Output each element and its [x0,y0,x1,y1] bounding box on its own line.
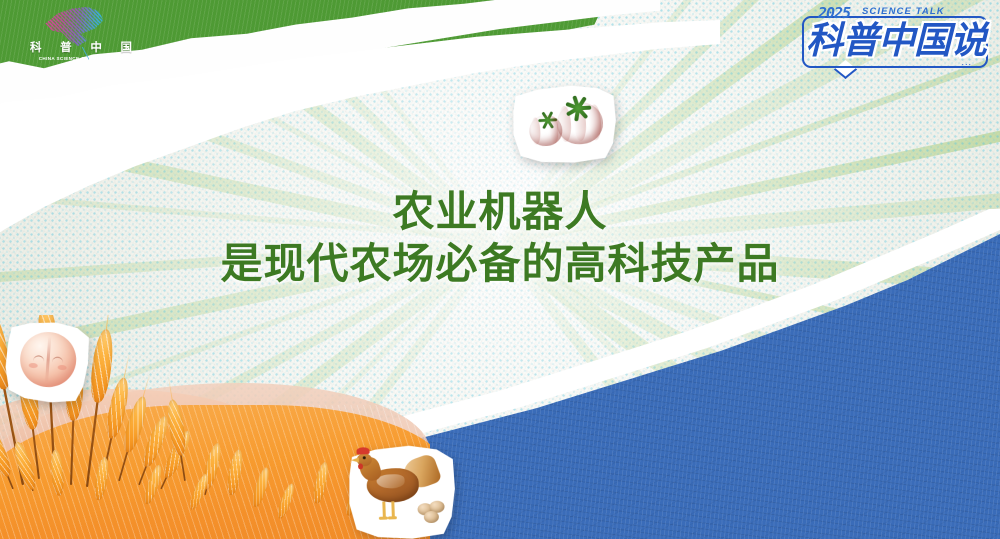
tomato-calyx-large-icon [565,99,592,113]
title-line-2: 是现代农场必备的高科技产品 [0,238,1000,290]
hen-eye-icon [363,456,366,459]
title-line-1: 农业机器人 [0,186,1000,238]
kepu-china-cn-text: 科 普 中 国 [30,42,132,55]
science-talk-underline [824,66,944,69]
hen-comb-icon [356,447,369,454]
peach-eye-right [52,356,63,363]
kepu-char-1: 普 [60,43,72,55]
kepu-char-2: 中 [90,43,102,55]
kepu-char-3: 国 [120,43,132,55]
kepu-char-0: 科 [30,43,42,55]
hen-wattle-icon [358,463,363,469]
science-talk-cn-label: 科普中国说 [806,20,982,61]
tomato-sticker [511,83,618,165]
peach-cheek-right [57,365,66,371]
kepu-china-logo[interactable]: 科 普 中 国 CHINA SCIENCE COMMUNICATION [28,6,132,64]
hen-sticker [347,444,456,539]
peach-cheek-left [29,363,38,369]
peach-sticker [3,319,90,405]
peach-eye-left [33,355,44,362]
hen-leg-left [382,502,385,518]
hen-foot-left [379,517,388,520]
science-talk-en-label: SCIENCE TALK [862,7,945,17]
peach-cleft [45,336,51,382]
hen-foot-right [388,516,397,519]
science-talk-ellipsis: ... [961,58,972,67]
science-talk-logo[interactable]: 2025 ... SCIENCE TALK 科普中国说 ... [806,4,982,66]
science-talk-year: 2025 [818,6,850,21]
poster-canvas: 科 普 中 国 CHINA SCIENCE COMMUNICATION 2025… [0,0,1000,539]
page-title: 农业机器人 是现代农场必备的高科技产品 [0,186,1000,290]
hen-leg-right [391,501,394,517]
kepu-china-en-text: CHINA SCIENCE COMMUNICATION [30,56,134,62]
